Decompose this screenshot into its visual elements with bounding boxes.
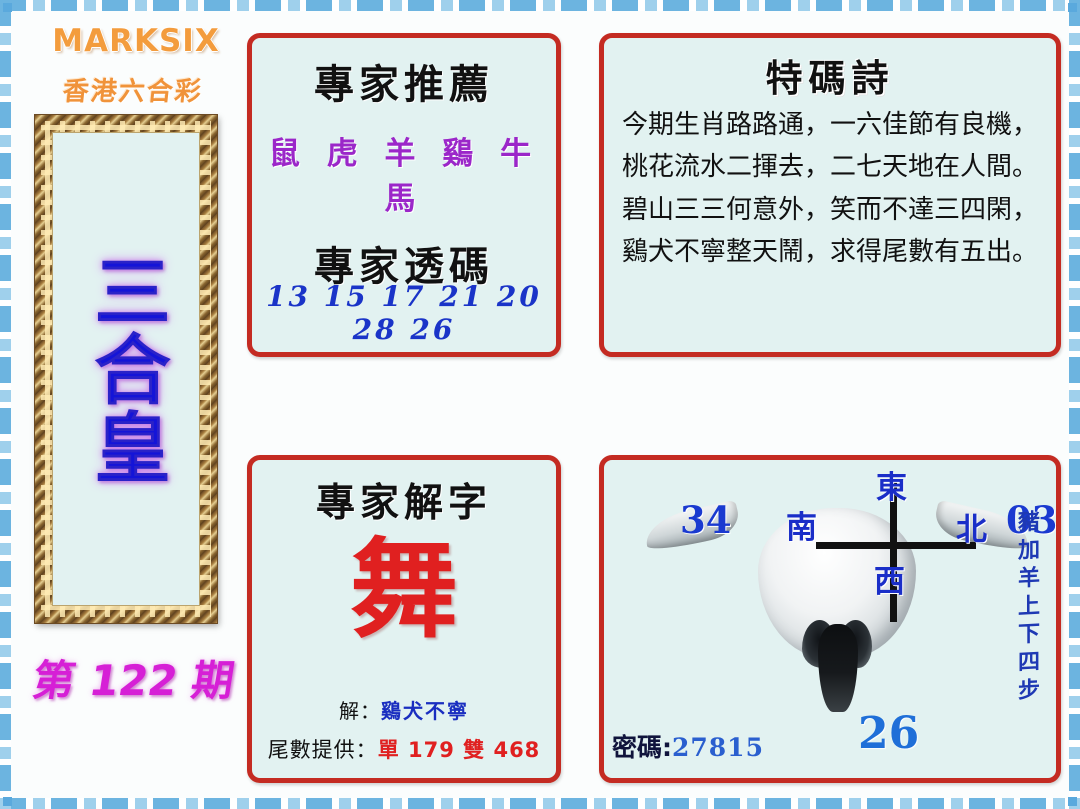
left-column: MARKSIX 香港六合彩 三合皇 第 122 期 <box>19 11 243 798</box>
word-explanation-row: 解：鷄犬不寧 <box>252 695 556 724</box>
poem-line: 鷄犬不寧整天鬧，求得尾數有五出。 <box>612 231 1048 273</box>
skull-nasal-cavity <box>818 624 858 712</box>
tail-numbers-row: 尾數提供：單 179 雙 468 <box>252 734 556 764</box>
secret-code-label: 密碼: <box>612 733 672 762</box>
tail-numbers-value: 單 179 雙 468 <box>378 738 541 762</box>
skull-compass-panel: 東 南 北 西 34 03 26 豬加羊上下四步 密碼:27815 <box>599 455 1061 783</box>
banner-inner: 三合皇 <box>52 132 200 606</box>
frame-border-right <box>1069 0 1080 809</box>
issue-number-label: 第 122 期 <box>24 647 244 708</box>
expert-recommendation-panel: 專家推薦 鼠 虎 羊 鷄 牛 馬 專家透碼 13 15 17 21 20 28 … <box>247 33 561 357</box>
skull-stage: 東 南 北 西 34 03 26 豬加羊上下四步 密碼:27815 <box>604 460 1056 778</box>
direction-label-east: 東 <box>876 462 907 507</box>
word-interpretation-panel: 專家解字 舞 解：鷄犬不寧 尾數提供：單 179 雙 468 <box>247 455 561 783</box>
corner-dot-tl <box>3 3 12 12</box>
frame-border-top <box>0 0 1080 11</box>
skull-side-verse: 豬加羊上下四步 <box>1010 509 1042 707</box>
frame-border-left <box>0 0 11 809</box>
corner-dot-tr <box>1068 3 1077 12</box>
corner-dot-br <box>1068 797 1077 806</box>
special-code-poem-panel: 特碼詩 今期生肖路路通，一六佳節有良機， 桃花流水二揮去，二七天地在人間。 碧山… <box>599 33 1061 357</box>
skull-number-bottom: 26 <box>858 708 919 759</box>
poem-line: 今期生肖路路通，一六佳節有良機， <box>612 104 1048 146</box>
featured-character: 舞 <box>252 534 556 647</box>
poem-panel-title: 特碼詩 <box>604 48 1056 102</box>
word-explanation-label: 解： <box>339 699 381 723</box>
poem-line: 碧山三三何意外，笑而不達三四閑， <box>612 189 1048 231</box>
direction-label-south: 南 <box>786 502 817 547</box>
poem-line: 桃花流水二揮去，二七天地在人間。 <box>612 146 1048 188</box>
expert-panel-title: 專家推薦 <box>252 52 556 110</box>
tail-numbers-label: 尾數提供： <box>268 738 378 762</box>
corner-dot-bl <box>3 797 12 806</box>
secret-code-row: 密碼:27815 <box>612 728 764 764</box>
poem-body: 今期生肖路路通，一六佳節有良機， 桃花流水二揮去，二七天地在人間。 碧山三三何意… <box>604 104 1056 274</box>
brand-chinese-logo: 香港六合彩 <box>31 71 235 108</box>
crosshair-horizontal-bar <box>816 542 976 549</box>
expert-lucky-numbers: 13 15 17 21 20 28 26 <box>252 280 556 346</box>
brand-latin-logo: MARKSIX <box>41 23 231 59</box>
secret-code-value: 27815 <box>672 733 764 762</box>
word-panel-title: 專家解字 <box>252 472 556 528</box>
frame-border-bottom <box>0 798 1080 809</box>
ornamental-gold-frame: 三合皇 <box>35 115 217 623</box>
direction-label-west: 西 <box>874 556 905 601</box>
banner-vertical-title: 三合皇 <box>86 252 165 486</box>
poster-canvas: MARKSIX 香港六合彩 三合皇 第 122 期 專家推薦 鼠 虎 羊 鷄 牛… <box>11 11 1069 798</box>
skull-number-left: 34 <box>680 498 732 542</box>
word-explanation-value: 鷄犬不寧 <box>381 699 469 723</box>
direction-label-north: 北 <box>956 504 987 549</box>
poster-root: MARKSIX 香港六合彩 三合皇 第 122 期 專家推薦 鼠 虎 羊 鷄 牛… <box>0 0 1080 809</box>
expert-zodiac-list: 鼠 虎 羊 鷄 牛 馬 <box>252 128 556 218</box>
